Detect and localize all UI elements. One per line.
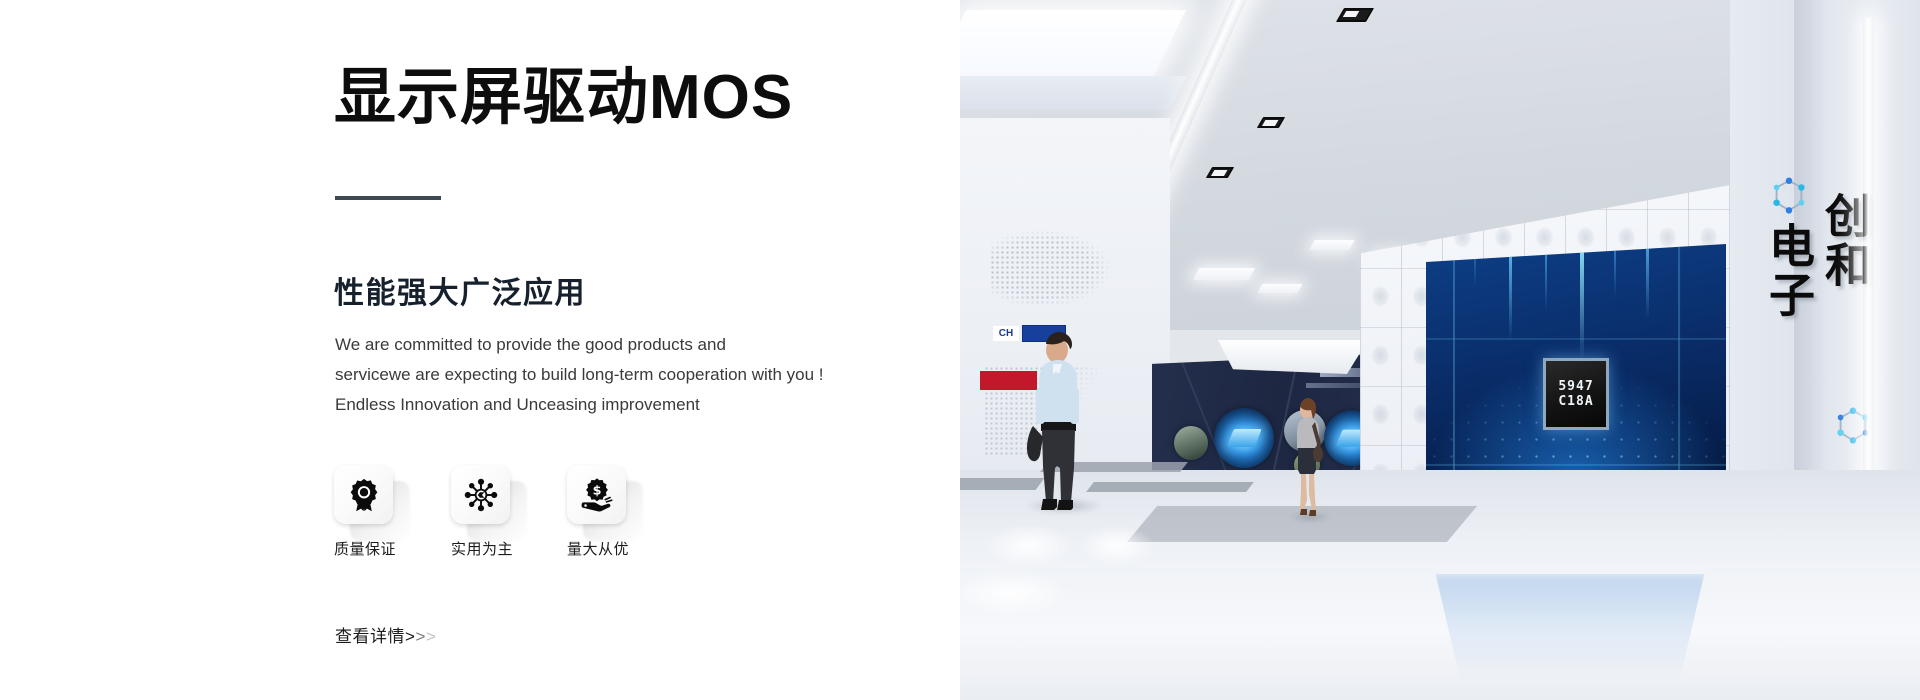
title-divider — [335, 196, 441, 200]
floor-light-reflection — [960, 570, 1070, 616]
hand-holding-coin-icon: $ — [567, 465, 626, 524]
description-line-1: We are committed to provide the good pro… — [335, 330, 824, 360]
ceiling-soffit — [1218, 340, 1368, 374]
hero-text-panel: 显示屏驱动MOS 性能强大广泛应用 We are committed to pr… — [0, 0, 960, 700]
feature-label-practical: 实用为主 — [451, 538, 567, 559]
ceiling-light-panel — [1193, 268, 1255, 280]
chip-label-line-2: C18A — [1558, 394, 1593, 409]
showroom-interior-photo: CH 5947 C18A — [960, 0, 1920, 700]
led-screen-floor-reflection — [1430, 574, 1710, 694]
description-paragraph: We are committed to provide the good pro… — [335, 330, 824, 420]
wall-photo-circle — [1174, 426, 1208, 460]
standing-man — [1023, 330, 1085, 510]
cta-chevron-3: > — [426, 627, 436, 646]
floor-light-reflection — [1078, 526, 1156, 566]
hexagon-molecule-icon — [1768, 174, 1810, 220]
showroom-floor — [960, 470, 1920, 700]
world-map-dot-graphic — [990, 230, 1120, 316]
cta-chevron-1: > — [405, 627, 415, 646]
walking-woman — [1290, 398, 1324, 518]
company-wall-signage: 创和 电子 — [1762, 192, 1870, 406]
floor-light-reflection — [986, 524, 1072, 568]
ceiling-skylight-reveal — [960, 76, 1186, 110]
ceiling-skylight-panel — [960, 10, 1186, 76]
wall-logo-plate: CH — [993, 326, 1019, 341]
cta-chevron-2: > — [415, 627, 425, 646]
signage-column-right: 创和 — [1822, 192, 1868, 290]
award-ribbon-icon — [334, 465, 393, 524]
page-title: 显示屏驱动MOS — [334, 62, 793, 133]
ceiling-light-panel — [1309, 240, 1354, 250]
product-hero-banner: 显示屏驱动MOS 性能强大广泛应用 We are committed to pr… — [0, 0, 1920, 700]
description-line-3: Endless Innovation and Unceasing improve… — [335, 390, 824, 420]
signage-column-left: 电子 — [1766, 222, 1812, 320]
svg-text:$: $ — [592, 483, 601, 498]
cta-label: 查看详情 — [335, 627, 405, 646]
description-line-2: servicewe are expecting to build long-te… — [335, 360, 824, 390]
recessed-spotlight-icon — [1257, 117, 1285, 128]
feature-label-quality: 质量保证 — [334, 538, 451, 559]
chip-label-line-1: 5947 — [1558, 379, 1593, 394]
feature-item-quality[interactable]: 质量保证 — [334, 465, 451, 559]
feature-label-bulk-discount: 量大从优 — [567, 538, 684, 559]
chip-graphic: 5947 C18A — [1543, 358, 1609, 430]
feature-item-bulk-discount[interactable]: $ 量大从优 — [567, 465, 684, 559]
feature-list: 质量保证 — [334, 465, 684, 559]
ceiling-light-panel — [1258, 284, 1303, 293]
feature-item-practical[interactable]: 实用为主 — [451, 465, 567, 559]
wall-chip-graphic-circle — [1214, 408, 1274, 468]
subheading: 性能强大广泛应用 — [334, 268, 586, 312]
recessed-spotlight-icon — [1206, 167, 1234, 178]
view-details-link[interactable]: 查看详情>>> — [335, 622, 436, 647]
recessed-spotlight-icon — [1336, 8, 1374, 22]
network-hub-icon — [451, 465, 510, 524]
floor-inset-strip — [1086, 482, 1254, 492]
